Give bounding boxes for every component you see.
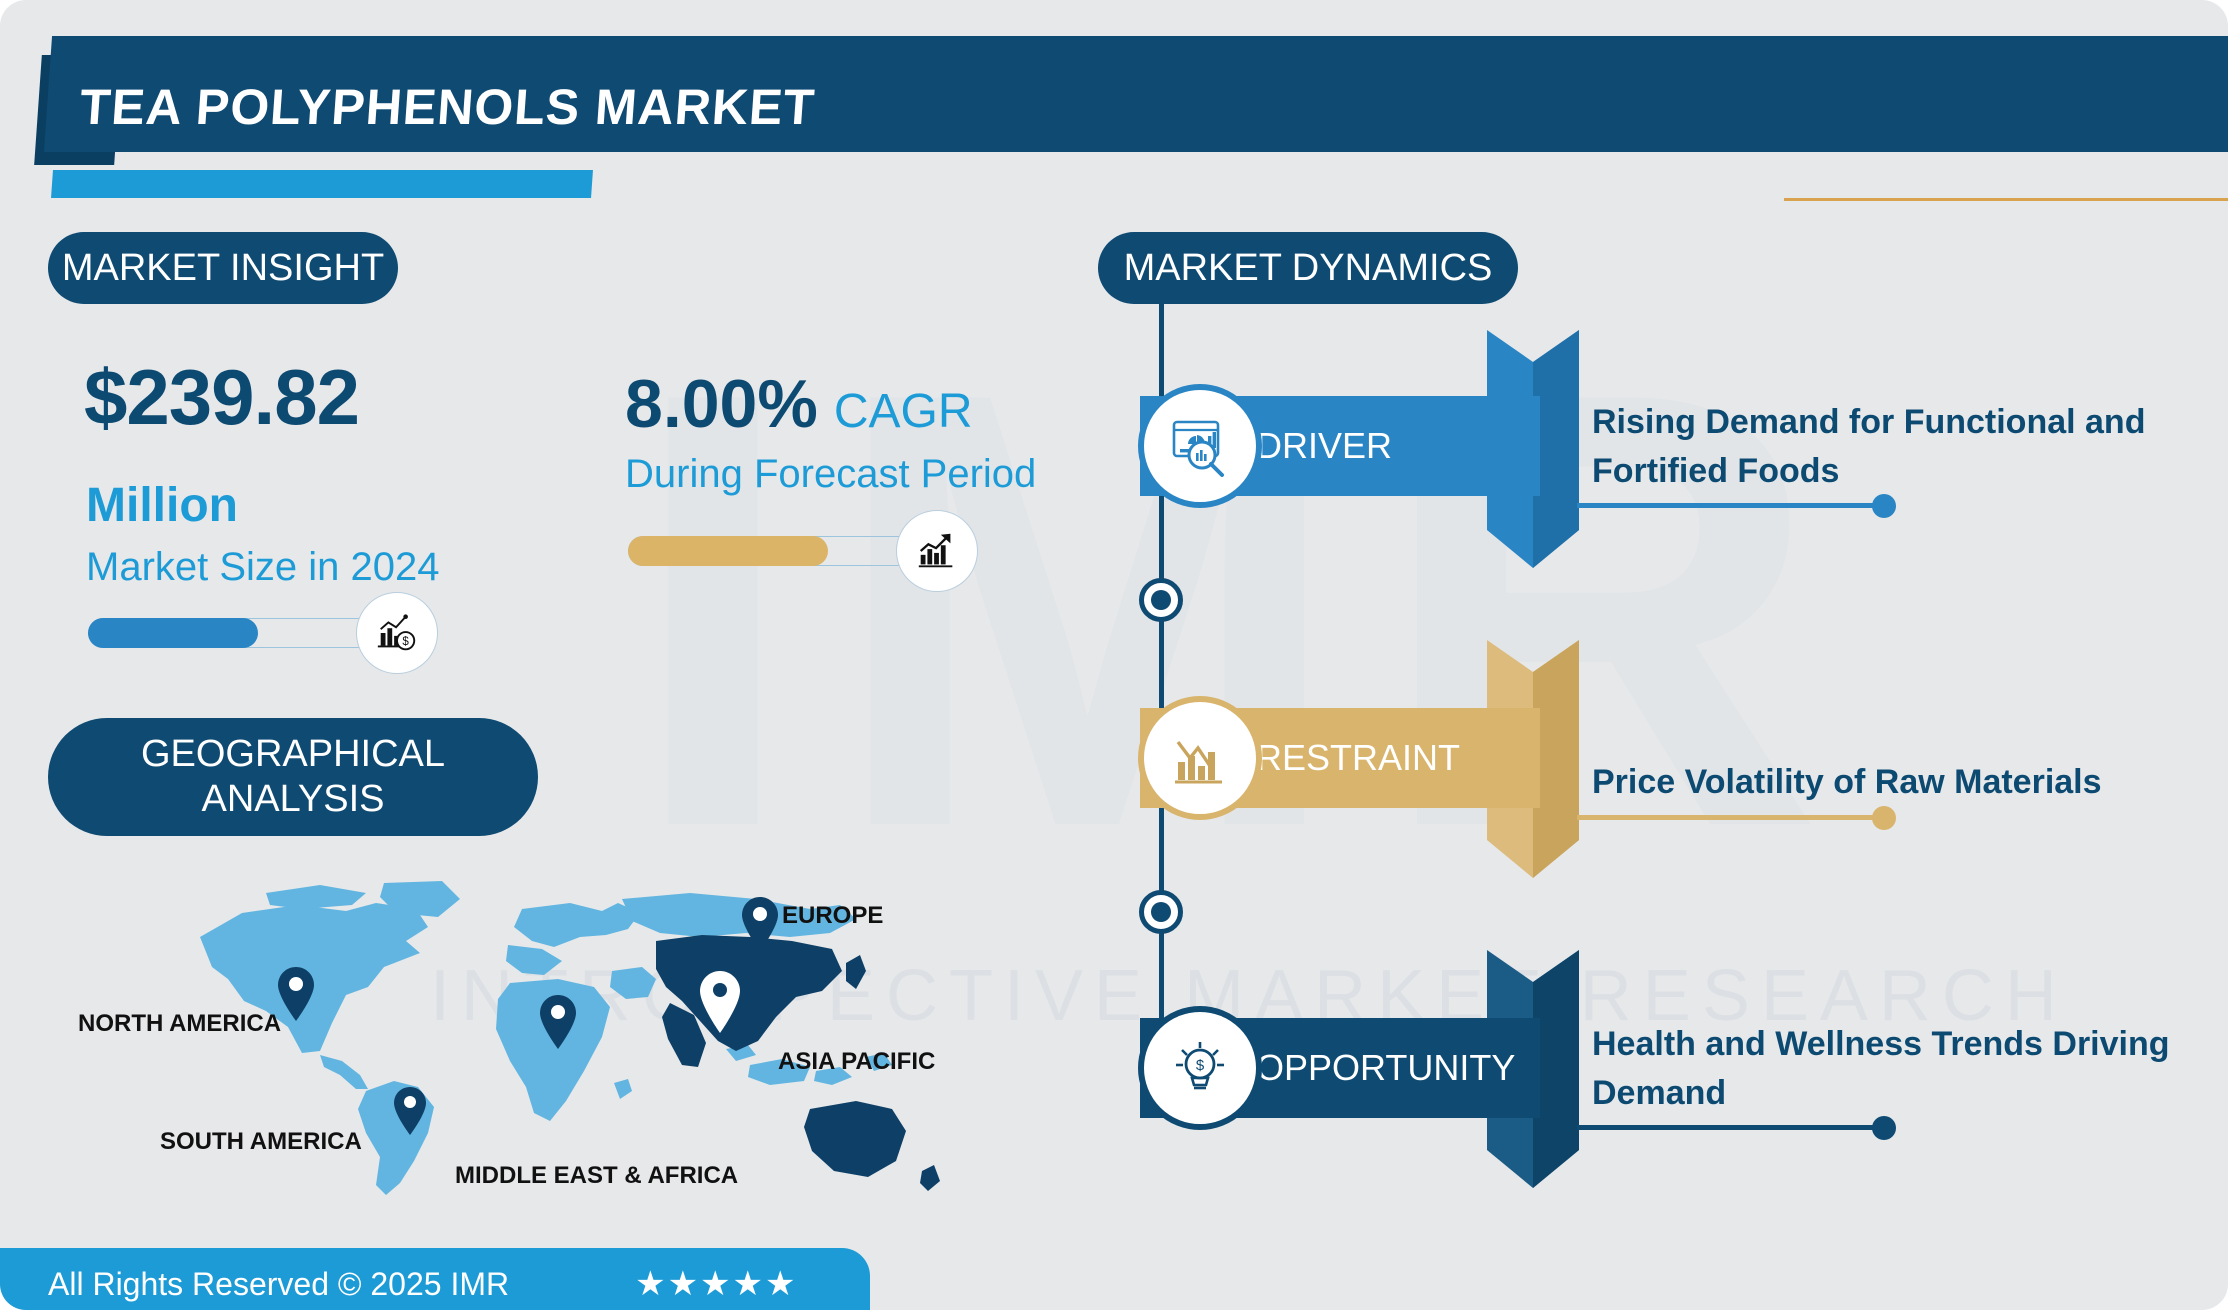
geographical-analysis-pill: GEOGRAPHICAL ANALYSIS: [48, 718, 538, 836]
cagr-caption: During Forecast Period: [625, 452, 1036, 497]
market-size-progress: $: [88, 610, 378, 654]
footer-rating-stars: ★★★★★: [635, 1264, 797, 1304]
map-label-europe: EUROPE: [782, 902, 883, 930]
driver-label: DRIVER: [1256, 425, 1392, 467]
footer-bar: All Rights Reserved © 2025 IMR ★★★★★: [0, 1248, 870, 1310]
timeline-node-2: [1139, 890, 1183, 934]
market-size-progress-fill: [88, 618, 258, 648]
market-size-unit: Million: [86, 478, 238, 533]
driver-connector-dot: [1872, 494, 1896, 518]
restraint-connector-dot: [1872, 806, 1896, 830]
restraint-bar: RESTRAINT: [1140, 708, 1540, 808]
title-accent-bar: [51, 170, 593, 198]
restraint-connector-line: [1577, 815, 1895, 820]
driver-text: Rising Demand for Functional and Fortifi…: [1592, 398, 2228, 497]
bar-chart-dollar-icon: $: [356, 592, 438, 674]
cagr-row: 8.00% CAGR: [625, 365, 973, 443]
restraint-text: Price Volatility of Raw Materials: [1592, 758, 2228, 807]
header-gold-rule: [1784, 198, 2228, 201]
map-label-middle-east-africa: MIDDLE EAST & AFRICA: [455, 1162, 738, 1190]
infographic-page: IMR INTROSPECTIVE MARKET RESEARCH TEA PO…: [0, 0, 2228, 1310]
market-dynamics-pill: MARKET DYNAMICS: [1098, 232, 1518, 304]
driver-bar: DRIVER: [1140, 396, 1540, 496]
opportunity-label: OPPORTUNITY: [1256, 1047, 1515, 1089]
map-label-north-america: NORTH AMERICA: [78, 1010, 281, 1038]
market-size-caption: Market Size in 2024: [86, 545, 440, 590]
chart-magnifier-icon: [1138, 384, 1262, 508]
declining-bar-chart-icon: [1138, 696, 1262, 820]
map-label-asia-pacific: ASIA PACIFIC: [778, 1048, 935, 1076]
cagr-label: CAGR: [834, 384, 973, 439]
cagr-value: 8.00%: [625, 365, 818, 443]
page-title: TEA POLYPHENOLS MARKET: [78, 78, 1482, 136]
svg-text:$: $: [1196, 1057, 1205, 1074]
driver-connector-line: [1577, 503, 1895, 508]
timeline-node-1: [1139, 578, 1183, 622]
cagr-progress: [628, 528, 918, 572]
opportunity-connector-dot: [1872, 1116, 1896, 1140]
svg-text:$: $: [402, 636, 409, 648]
growth-arrow-chart-icon: [896, 510, 978, 592]
market-size-value: $239.82: [84, 352, 359, 443]
map-label-south-america: SOUTH AMERICA: [160, 1128, 362, 1156]
opportunity-bar: $ OPPORTUNITY: [1140, 1018, 1540, 1118]
restraint-label: RESTRAINT: [1256, 737, 1460, 779]
cagr-progress-fill: [628, 536, 828, 566]
opportunity-connector-line: [1577, 1125, 1895, 1130]
footer-copyright: All Rights Reserved © 2025 IMR: [48, 1266, 509, 1303]
opportunity-text: Health and Wellness Trends Driving Deman…: [1592, 1020, 2228, 1119]
market-insight-pill: MARKET INSIGHT: [48, 232, 398, 304]
lightbulb-dollar-icon: $: [1138, 1006, 1262, 1130]
